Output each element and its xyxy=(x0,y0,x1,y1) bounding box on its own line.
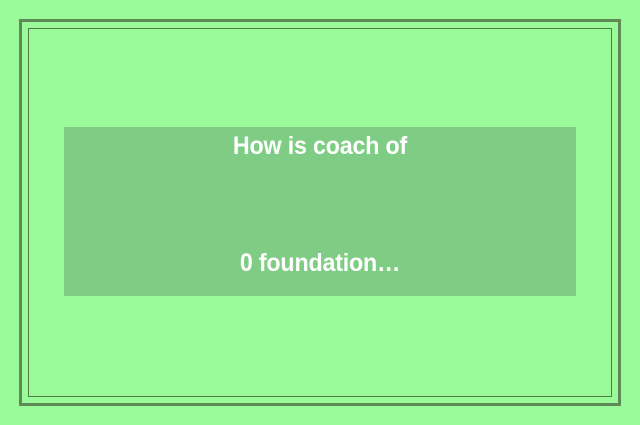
panel-text-line-1: How is coach of xyxy=(82,127,558,166)
card-canvas: How is coach of 0 foundation… xyxy=(0,0,640,425)
panel-text-line-2: 0 foundation… xyxy=(82,244,558,283)
panel-text-block: How is coach of 0 foundation… xyxy=(82,49,558,361)
content-panel: How is coach of 0 foundation… xyxy=(64,127,576,296)
